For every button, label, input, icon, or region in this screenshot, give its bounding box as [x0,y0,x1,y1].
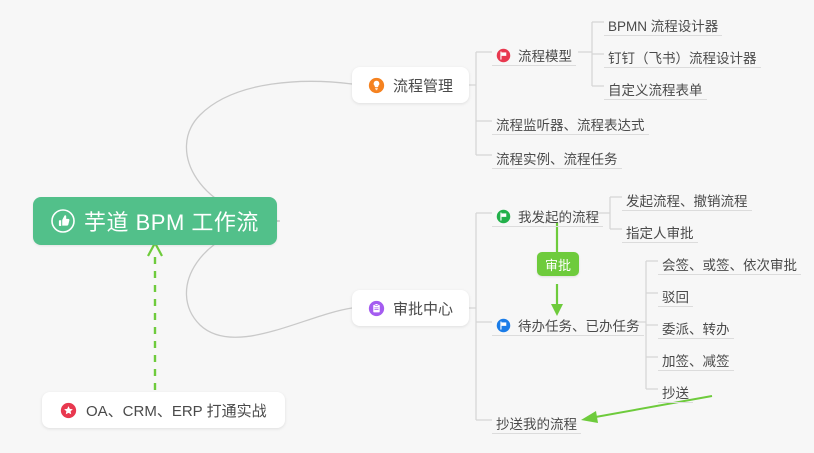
clipboard-icon [368,300,385,317]
branch-label: 审批中心 [393,298,453,319]
node-process-listener[interactable]: 流程监听器、流程表达式 [492,109,649,135]
branch-label: 流程管理 [393,75,453,96]
node-assigned-approval[interactable]: 指定人审批 [622,217,698,243]
annotation-label: OA、CRM、ERP 打通实战 [86,400,267,421]
flag-icon [496,318,511,333]
node-label: 指定人审批 [626,227,694,241]
node-process-model[interactable]: 流程模型 [492,40,576,66]
flag-icon [496,48,511,63]
arrow-oa-to-root [148,243,162,390]
link-process-management-children [463,52,492,155]
node-label: 抄送我的流程 [496,418,577,432]
root-node[interactable]: 芋道 BPM 工作流 [33,197,277,245]
lightbulb-icon [368,77,385,94]
node-bpmn-designer[interactable]: BPMN 流程设计器 [604,10,722,36]
node-label: 我发起的流程 [518,211,599,225]
branch-approval-center[interactable]: 审批中心 [352,290,469,326]
node-reject[interactable]: 驳回 [658,281,693,307]
edge-label-approval: 审批 [537,252,579,276]
node-label: 委派、转办 [662,323,730,337]
root-label: 芋道 BPM 工作流 [84,205,259,237]
node-countersign[interactable]: 会签、或签、依次审批 [658,249,801,275]
node-label: 加签、减签 [662,355,730,369]
node-process-instance[interactable]: 流程实例、流程任务 [492,143,622,169]
node-label: 流程模型 [518,50,572,64]
node-todo-done-tasks[interactable]: 待办任务、已办任务 [492,310,644,336]
node-label: 流程监听器、流程表达式 [496,119,645,133]
node-cc-my-process[interactable]: 抄送我的流程 [492,408,581,434]
node-carbon-copy[interactable]: 抄送 [658,377,693,403]
edge-label-text: 审批 [545,255,571,274]
annotation-oa-crm-erp[interactable]: OA、CRM、ERP 打通实战 [42,392,285,428]
node-label: BPMN 流程设计器 [608,20,718,34]
node-dingtalk-designer[interactable]: 钉钉（飞书）流程设计器 [604,42,761,68]
node-delegate-transfer[interactable]: 委派、转办 [658,313,734,339]
node-my-started-process[interactable]: 我发起的流程 [492,201,603,227]
node-add-remove-sign[interactable]: 加签、减签 [658,345,734,371]
flag-icon [496,209,511,224]
node-label: 会签、或签、依次审批 [662,259,797,273]
link-process-model-children [578,22,604,86]
thumbs-up-icon [51,209,75,233]
node-custom-form[interactable]: 自定义流程表单 [604,74,707,100]
node-start-cancel-process[interactable]: 发起流程、撤销流程 [622,185,752,211]
star-icon [60,402,77,419]
node-label: 流程实例、流程任务 [496,153,618,167]
mindmap-canvas: 芋道 BPM 工作流 流程管理 流程模型 BPMN 流程设计器 钉钉（飞书）流程 [0,0,814,453]
node-label: 自定义流程表单 [608,84,703,98]
node-label: 抄送 [662,387,689,401]
node-label: 钉钉（飞书）流程设计器 [608,52,757,66]
node-label: 驳回 [662,291,689,305]
branch-process-management[interactable]: 流程管理 [352,67,469,103]
node-label: 待办任务、已办任务 [518,320,640,334]
node-label: 发起流程、撤销流程 [626,195,748,209]
